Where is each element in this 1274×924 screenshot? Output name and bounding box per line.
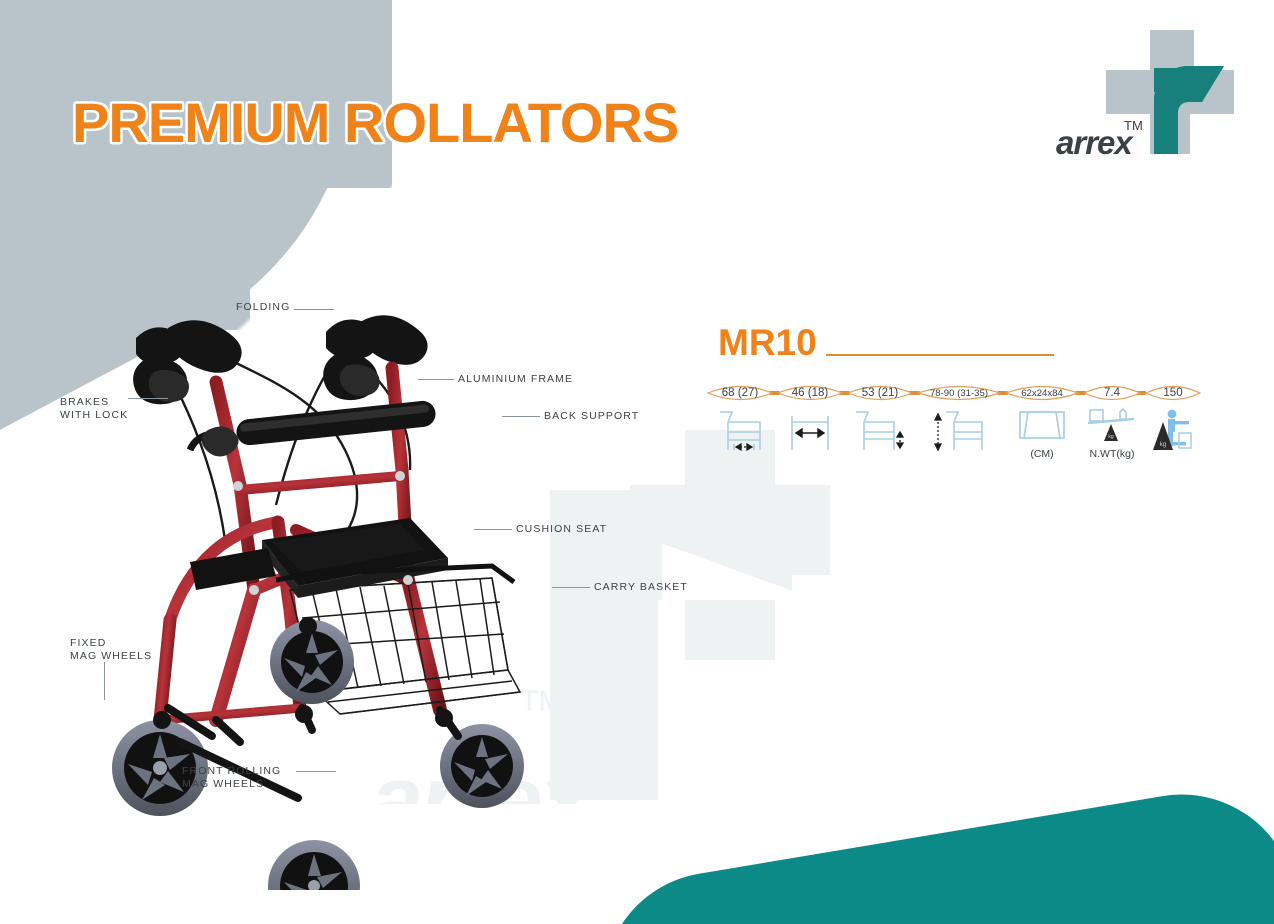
spec-value-net-weight: 7.4: [1082, 380, 1142, 406]
callout-front-line2: MAG WHEELS: [182, 778, 281, 791]
spec-value-overall-width: 68 (27): [706, 380, 774, 406]
spec-badge-carton-size: 62x24x84: [1004, 380, 1080, 406]
leader-line-carry-basket: [552, 587, 590, 588]
chair-seat-height-icon: [852, 408, 908, 454]
svg-text:kg: kg: [1108, 434, 1114, 440]
callout-fixed-line2: MAG WHEELS: [70, 650, 152, 663]
callout-front-rolling-mag-wheels: FRONT ROLLING MAG WHEELS: [182, 765, 281, 791]
spec-item-max-load: 150 kg: [1144, 380, 1202, 458]
spec-badge-handle-height: 78-90 (31-35): [916, 380, 1002, 406]
spec-item-carton-size: 62x24x84 (CM): [1004, 380, 1080, 460]
callout-back-support: BACK SUPPORT: [544, 410, 639, 423]
chair-width-icon: [712, 408, 768, 454]
spec-value-max-load: 150: [1144, 380, 1202, 406]
leader-line-brakes: [128, 398, 168, 399]
model-name: MR10: [718, 322, 817, 364]
callout-aluminium-frame: ALUMINIUM FRAME: [458, 373, 573, 386]
callout-fixed-mag-wheels: FIXED MAG WHEELS: [70, 637, 152, 663]
spec-value-seat-depth: 53 (21): [846, 380, 914, 406]
spec-badge-seat-depth: 53 (21): [846, 380, 914, 406]
page-title: PREMIUM ROLLATORS: [72, 90, 678, 155]
leader-line-back-support: [502, 416, 540, 417]
spec-badge-seat-width: 46 (18): [776, 380, 844, 406]
spec-badge-max-load: 150: [1144, 380, 1202, 406]
carton-box-icon: [1010, 408, 1074, 442]
leader-line-cushion-seat: [474, 529, 512, 530]
leader-line-front-rolling-mag-wheels: [296, 771, 336, 772]
poster-page: TM arrex PREMIUM ROLLATORS TM arrex: [0, 0, 1274, 924]
callout-brakes-line2: WITH LOCK: [60, 409, 128, 422]
callout-fixed-line1: FIXED: [70, 637, 152, 650]
spec-item-net-weight: 7.4 kg N.WT(kg): [1082, 380, 1142, 460]
spec-value-carton-size: 62x24x84: [1004, 380, 1080, 406]
callout-carry-basket: CARRY BASKET: [594, 581, 688, 594]
brand-logo: TM arrex: [1028, 22, 1250, 157]
model-underline: [826, 354, 1054, 356]
user-load-icon: kg: [1145, 408, 1201, 452]
callout-cushion-seat: CUSHION SEAT: [516, 523, 607, 536]
leader-line-folding: [294, 309, 334, 310]
chair-seat-width-icon: [782, 408, 838, 454]
spec-value-handle-height: 78-90 (31-35): [916, 380, 1002, 406]
spec-label-carton-size: (CM): [1004, 448, 1080, 460]
leader-line-fixed-mag-wheels: [104, 662, 105, 700]
chair-total-height-icon: [924, 408, 994, 454]
spec-label-net-weight: N.WT(kg): [1082, 448, 1142, 460]
spec-item-handle-height: 78-90 (31-35): [916, 380, 1002, 460]
weight-scale-icon: kg: [1082, 408, 1142, 442]
spec-badge-net-weight: 7.4: [1082, 380, 1142, 406]
spec-badge-overall-width: 68 (27): [706, 380, 774, 406]
callout-front-line1: FRONT ROLLING: [182, 765, 281, 778]
callout-brakes-with-lock: BRAKES WITH LOCK: [60, 396, 128, 422]
callout-folding: FOLDING: [236, 301, 290, 314]
leader-line-aluminium-frame: [418, 379, 454, 380]
brand-wordmark: arrex: [1056, 124, 1132, 162]
spec-value-seat-width: 46 (18): [776, 380, 844, 406]
svg-text:kg: kg: [1160, 442, 1166, 448]
spec-item-overall-width: 68 (27): [706, 380, 774, 460]
spec-item-seat-width: 46 (18): [776, 380, 844, 460]
spec-item-seat-depth: 53 (21): [846, 380, 914, 460]
spec-strip: 68 (27) 46: [706, 380, 1186, 475]
callout-brakes-line1: BRAKES: [60, 396, 128, 409]
